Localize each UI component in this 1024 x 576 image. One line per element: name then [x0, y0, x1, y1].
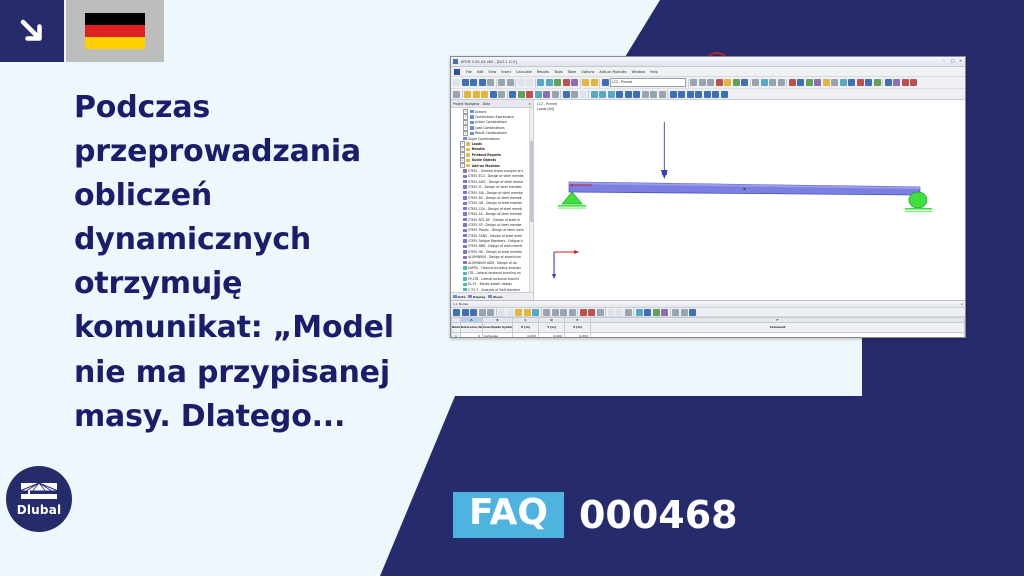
- tree-node-icon: [463, 250, 467, 253]
- table-settings-icon[interactable]: [625, 309, 632, 316]
- tree-node-icon: [470, 126, 474, 129]
- tree-node-icon: [463, 266, 467, 269]
- info-icon[interactable]: [902, 79, 909, 86]
- display-props-7-icon[interactable]: [721, 91, 728, 98]
- visibility-icon[interactable]: [616, 91, 623, 98]
- navigator-item-label: STEEL SANS - Design of steel mem: [468, 234, 522, 238]
- rotate-icon[interactable]: [778, 79, 785, 86]
- tree-node-icon: [463, 239, 467, 242]
- member-load-icon[interactable]: [543, 91, 550, 98]
- table-new-row-icon[interactable]: [453, 309, 460, 316]
- menu-view[interactable]: View: [488, 70, 496, 74]
- table-check-icon[interactable]: [653, 309, 660, 316]
- text-icon[interactable]: [571, 91, 578, 98]
- menu-window[interactable]: Window: [632, 70, 645, 74]
- deformation-icon[interactable]: [733, 79, 740, 86]
- toolbar-separator: [750, 79, 751, 87]
- page-title: Podczas przeprowadzania obliczeń dynamic…: [74, 86, 404, 439]
- navigator-close-icon[interactable]: ×: [528, 102, 531, 106]
- dimension-icon[interactable]: [563, 91, 570, 98]
- tree-node-icon: [463, 283, 467, 286]
- dlubal-logo[interactable]: Dlubal: [6, 466, 72, 532]
- support-roller-right: [909, 192, 927, 208]
- polyline-tool-icon[interactable]: [481, 91, 488, 98]
- undo-icon[interactable]: [537, 79, 544, 86]
- faq-footer: FAQ 000468: [453, 492, 738, 538]
- german-flag-icon: [85, 13, 145, 49]
- table-next-icon[interactable]: [560, 309, 567, 316]
- toolbar-separator: [605, 308, 606, 316]
- tree-node-icon: [470, 115, 474, 118]
- app-icon: [453, 59, 458, 64]
- group-icon[interactable]: [625, 91, 632, 98]
- navigator-tab-display[interactable]: Display: [468, 295, 485, 299]
- view-side-icon[interactable]: [806, 79, 813, 86]
- menu-file[interactable]: File: [466, 70, 472, 74]
- zoom-window-icon[interactable]: [752, 79, 759, 86]
- arrow-badge[interactable]: [0, 0, 64, 62]
- select-window-icon[interactable]: [599, 91, 606, 98]
- coordinate-axes: [552, 250, 579, 279]
- module-icon[interactable]: [885, 79, 892, 86]
- tree-node-icon: [466, 164, 470, 167]
- table-cut-icon[interactable]: [479, 309, 486, 316]
- table-view-icon[interactable]: [597, 309, 604, 316]
- view-top-icon[interactable]: [797, 79, 804, 86]
- surface-tool-icon[interactable]: [498, 91, 505, 98]
- menu-help[interactable]: Help: [650, 70, 658, 74]
- node-1: [571, 184, 574, 187]
- navigator-footer-tabs[interactable]: Data Display Views: [451, 292, 533, 300]
- load-case-prev-icon[interactable]: [602, 79, 609, 86]
- navigator-item-label: ALUMINIUM ADM - Design of alu: [468, 261, 517, 265]
- display-props-5-icon[interactable]: [704, 91, 711, 98]
- close-button[interactable]: ×: [959, 59, 963, 63]
- display-props-icon[interactable]: [670, 91, 677, 98]
- help-icon[interactable]: [910, 79, 917, 86]
- table-graphic-icon[interactable]: [661, 309, 668, 316]
- toolbar-separator: [462, 90, 463, 98]
- tree-node-icon: [463, 234, 467, 237]
- navigator-item-label: FE-LTB - Lateral-torsional bucklin: [468, 277, 519, 281]
- tree-node-icon: [463, 202, 467, 205]
- cell-reference-node[interactable]: 0: [461, 333, 483, 339]
- table-calc-icon[interactable]: [644, 309, 651, 316]
- table-delete-row-icon[interactable]: [470, 309, 477, 316]
- zoom-all-icon[interactable]: [761, 79, 768, 86]
- menu-tools[interactable]: Tools: [554, 70, 562, 74]
- view-front-icon[interactable]: [789, 79, 796, 86]
- navigator-scrollbar[interactable]: [529, 108, 533, 292]
- table-help-icon[interactable]: [689, 309, 696, 316]
- table-highlight-icon[interactable]: [588, 309, 595, 316]
- print-icon[interactable]: [487, 79, 494, 86]
- toolbar-separator: [496, 308, 497, 316]
- print-preview-icon[interactable]: [865, 79, 872, 86]
- load-marker: [662, 170, 667, 175]
- select-all-icon[interactable]: [591, 91, 598, 98]
- tree-node-icon: [470, 132, 474, 135]
- toolbar-separator: [688, 79, 689, 87]
- table-export-excel-icon[interactable]: [616, 309, 623, 316]
- copy-icon[interactable]: [507, 79, 514, 86]
- toolbar-separator: [670, 308, 671, 316]
- navigator-item-label: Guide Objects: [472, 158, 496, 162]
- cell-z[interactable]: 0.000: [565, 333, 591, 339]
- display-props-2-icon[interactable]: [678, 91, 685, 98]
- arc-tool-icon[interactable]: [473, 91, 480, 98]
- faq-number: 000468: [579, 496, 738, 534]
- node-tool-icon[interactable]: [453, 91, 460, 98]
- tree-node-icon: [463, 191, 467, 194]
- table-toolbar[interactable]: [451, 308, 965, 317]
- tree-node-icon: [463, 207, 467, 210]
- cell-coordinate-system[interactable]: Cartesian: [483, 333, 513, 339]
- header-node-no: Node No.: [452, 323, 461, 333]
- table-first-icon[interactable]: [543, 309, 550, 316]
- support-base-right: [905, 208, 932, 210]
- cut-icon[interactable]: [498, 79, 505, 86]
- navigator-item-label: ALUMINIUM - Design of aluminium: [468, 255, 521, 259]
- load-tool-icon[interactable]: [526, 91, 533, 98]
- table-selection-icon[interactable]: [580, 309, 587, 316]
- support-hatch-left: [558, 208, 586, 209]
- nav-prev-icon[interactable]: [699, 79, 706, 86]
- slide-canvas: Podczas przeprowadzania obliczeń dynamic…: [0, 0, 1024, 576]
- tree-node-icon: [463, 261, 467, 264]
- nav-next-icon[interactable]: [707, 79, 714, 86]
- beam-model-graphic: [534, 100, 965, 300]
- tree-node-icon: [466, 153, 470, 156]
- tree-node-icon: [463, 256, 467, 259]
- table-replace-icon[interactable]: [681, 309, 688, 316]
- language-flag-badge[interactable]: [66, 0, 164, 62]
- cell-y[interactable]: 0.000: [539, 333, 565, 339]
- navigator-item-label: Super Combinations: [468, 137, 499, 141]
- maximize-button[interactable]: □: [951, 59, 955, 63]
- paste-icon[interactable]: [518, 79, 525, 86]
- results-table-icon[interactable]: [724, 79, 731, 86]
- tree-node-icon: [463, 196, 467, 199]
- window-controls[interactable]: – □ ×: [943, 59, 963, 63]
- header-comment: Comment: [591, 323, 965, 333]
- menu-app-logo-icon: [454, 69, 460, 75]
- grid-icon[interactable]: [840, 79, 847, 86]
- new-file-icon[interactable]: [453, 79, 460, 86]
- results-on-icon[interactable]: [716, 79, 723, 86]
- window-titlebar: RFEM 5.XX.XX x64 - [DLT-1 (C)*] – □ ×: [451, 57, 965, 67]
- export-icon[interactable]: [874, 79, 881, 86]
- toolbar-separator: [515, 79, 516, 87]
- tree-node-icon: [463, 223, 467, 226]
- table-header-row: Node No. Reference Node Coordinate Syste…: [452, 323, 965, 333]
- mirror-icon[interactable]: [642, 91, 649, 98]
- view-iso-icon[interactable]: [814, 79, 821, 86]
- save-icon[interactable]: [470, 79, 477, 86]
- table-title: 1.1 Nodes: [453, 302, 468, 306]
- rfem-application-window[interactable]: RFEM 5.XX.XX x64 - [DLT-1 (C)*] – □ × Fi…: [450, 56, 966, 338]
- navigator-item-label: STEEL BS - Design of steel membe: [468, 196, 522, 200]
- module-2-icon[interactable]: [893, 79, 900, 86]
- header-z: Z [m]: [565, 323, 591, 333]
- tree-node-icon: [463, 272, 467, 275]
- menu-insert[interactable]: Insert: [501, 70, 511, 74]
- rotate-copy-icon[interactable]: [650, 91, 657, 98]
- truss-frame-icon: [19, 482, 59, 502]
- table-filter-icon[interactable]: [515, 309, 522, 316]
- table-panel-header: 1.1 Nodes ×: [451, 301, 965, 308]
- navigator-tree[interactable]: +Actions+Combination Expressions+Action …: [451, 108, 533, 292]
- clipboard-icon[interactable]: [526, 79, 533, 86]
- measure-icon[interactable]: [580, 91, 587, 98]
- table-copy-icon[interactable]: [487, 309, 494, 316]
- header-reference-node: Reference Node: [461, 323, 483, 333]
- cell-comment[interactable]: [591, 333, 965, 339]
- open-file-icon[interactable]: [462, 79, 469, 86]
- table-panel[interactable]: 1.1 Nodes ×: [451, 300, 965, 338]
- navigator-item-label: Add-on Modules: [472, 164, 500, 168]
- table-import-icon[interactable]: [507, 309, 514, 316]
- tree-node-icon: [463, 212, 467, 215]
- nav-first-icon[interactable]: [690, 79, 697, 86]
- nodes-table: A B C D E F Node No. Reference Node Coor…: [451, 317, 965, 338]
- node-mid: [743, 188, 745, 190]
- navigator-item-label: STEEL NBR - Design of steel memb: [468, 244, 522, 248]
- navigator-item-label: STEEL - General stress analysis of s: [468, 169, 523, 173]
- navigator-item-label: STEEL Fatigue Members - Fatigue d: [468, 239, 522, 243]
- header-x: X [m]: [513, 323, 539, 333]
- toolbar-secondary[interactable]: [451, 89, 965, 100]
- menu-edit[interactable]: Edit: [477, 70, 484, 74]
- toolbar-separator: [667, 90, 668, 98]
- toolbar-separator: [541, 308, 542, 316]
- load-case-select[interactable]: LC2 - Pinned: [610, 78, 686, 87]
- table-sort-icon[interactable]: [524, 309, 531, 316]
- tree-node-icon: [463, 288, 467, 291]
- navigator-item-label: STEEL GB - Design of steel membe: [468, 201, 522, 205]
- snap-icon[interactable]: [831, 79, 838, 86]
- table-last-icon[interactable]: [569, 309, 576, 316]
- view-perspective-icon[interactable]: [823, 79, 830, 86]
- navigator-item-label: Load Combinations: [475, 126, 505, 130]
- display-props-4-icon[interactable]: [695, 91, 702, 98]
- navigator-item-label: Result Combinations: [475, 131, 507, 135]
- tree-node-icon: [463, 180, 467, 183]
- nodes-grid[interactable]: A B C D E F Node No. Reference Node Coor…: [451, 317, 965, 338]
- navigator-item-label: Loads: [472, 142, 482, 146]
- navigator-tab-views[interactable]: Views: [488, 295, 502, 299]
- support-hatch-right: [905, 211, 932, 212]
- menu-calculate[interactable]: Calculate: [516, 70, 532, 74]
- minimize-button[interactable]: –: [943, 59, 947, 63]
- display-props-6-icon[interactable]: [712, 91, 719, 98]
- wireframe-icon[interactable]: [591, 79, 598, 86]
- navigator-item-label: Printout Reports: [472, 153, 501, 157]
- layer-icon[interactable]: [633, 91, 640, 98]
- tree-node-icon: [463, 169, 467, 172]
- pan-icon[interactable]: [769, 79, 776, 86]
- navigator-item-label: STEEL HK - Design of steel membe: [468, 250, 522, 254]
- header-y: Y [m]: [539, 323, 565, 333]
- table-find-icon[interactable]: [672, 309, 679, 316]
- navigator-item-label: KAPPA - Flexural buckling analysis: [468, 266, 521, 270]
- table-print-icon[interactable]: [608, 309, 615, 316]
- navigator-item-label: STEEL CSA - Design of steel memb: [468, 207, 522, 211]
- navigator-item-label: C-TO-T - Analysis of limit slendern: [468, 288, 520, 292]
- toolbar-separator: [633, 308, 634, 316]
- toolbar-separator: [599, 79, 600, 87]
- menu-results[interactable]: Results: [537, 70, 549, 74]
- calculate-icon[interactable]: [554, 79, 561, 86]
- toolbar-separator: [882, 79, 883, 87]
- toolbar-separator: [560, 90, 561, 98]
- redo-icon[interactable]: [546, 79, 553, 86]
- table-units-icon[interactable]: [636, 309, 643, 316]
- cell-node-no[interactable]: 1: [452, 333, 461, 339]
- tree-node-icon: [463, 277, 467, 280]
- project-navigator[interactable]: Project Navigator - Data × +Actions+Comb…: [451, 100, 534, 300]
- navigator-title: Project Navigator - Data: [453, 102, 490, 106]
- navigator-item-label: EL-PL - Elastic-plastic design: [468, 282, 512, 286]
- tree-node-icon: [466, 148, 470, 151]
- tree-node-icon: [466, 159, 470, 162]
- header-coordinate-system: Coordinate System: [483, 323, 513, 333]
- table-prev-icon[interactable]: [552, 309, 559, 316]
- support-tool-icon[interactable]: [509, 91, 516, 98]
- nodal-load-icon[interactable]: [535, 91, 542, 98]
- tree-expand-icon[interactable]: +: [460, 163, 465, 168]
- navigator-item-label: STEEL SIA - Design of steel membe: [468, 191, 522, 195]
- table-panel-close-icon[interactable]: ×: [960, 302, 963, 306]
- stop-icon[interactable]: [563, 79, 570, 86]
- faq-tag: FAQ: [453, 492, 564, 538]
- navigator-header: Project Navigator - Data ×: [451, 100, 533, 108]
- navigator-item-label: Combination Expressions: [475, 115, 514, 119]
- section-icon[interactable]: [741, 79, 748, 86]
- toolbar-separator: [786, 79, 787, 87]
- tree-node-icon: [470, 110, 474, 113]
- toolbar-separator: [588, 90, 589, 98]
- tree-node-icon: [463, 137, 467, 140]
- tree-node-icon: [463, 218, 467, 221]
- toolbar-primary[interactable]: LC2 - Pinned: [451, 77, 965, 89]
- toolbar-separator: [535, 79, 536, 87]
- arrow-down-right-icon: [17, 16, 47, 46]
- table-row[interactable]: 10Cartesian0.0000.0000.000: [452, 333, 965, 339]
- support-base-left: [558, 205, 586, 207]
- navigator-item-label: STEEL NTC-DF - Design of steel m: [468, 218, 520, 222]
- navigator-item-label: STEEL SP - Design of steel membe: [468, 223, 521, 227]
- window-title: RFEM 5.XX.XX x64 - [DLT-1 (C)*]: [461, 60, 517, 64]
- display-props-3-icon[interactable]: [687, 91, 694, 98]
- surface-load-icon[interactable]: [552, 91, 559, 98]
- table-refresh-icon[interactable]: [532, 309, 539, 316]
- navigator-item-label: Actions: [475, 110, 486, 114]
- work-area: Project Navigator - Data × +Actions+Comb…: [451, 100, 965, 300]
- navigator-item-label: STEEL AISC - Design of steel memb: [468, 180, 523, 184]
- guideline-icon[interactable]: [848, 79, 855, 86]
- toolbar-separator: [580, 79, 581, 87]
- navigator-item-label: STEEL Plastic - Design of steel mem: [468, 228, 524, 232]
- cell-x[interactable]: 0.000: [513, 333, 539, 339]
- scale-icon[interactable]: [659, 91, 666, 98]
- navigator-item-label: STEEL AS - Design of steel membe: [468, 212, 522, 216]
- select-special-icon[interactable]: [608, 91, 615, 98]
- menu-table[interactable]: Table: [568, 70, 577, 74]
- hinge-tool-icon[interactable]: [518, 91, 525, 98]
- tree-node-icon: [463, 185, 467, 188]
- render-icon[interactable]: [582, 79, 589, 86]
- tree-node-icon: [470, 121, 474, 124]
- menubar[interactable]: File Edit View Insert Calculate Results …: [451, 67, 965, 77]
- model-viewport[interactable]: LC2 - Pinned Loads [kN]: [534, 100, 965, 300]
- delete-icon[interactable]: [857, 79, 864, 86]
- tree-node-icon: [463, 245, 467, 248]
- toolbar-separator: [577, 308, 578, 316]
- table-paste-icon[interactable]: [498, 309, 505, 316]
- tree-node-icon: [463, 229, 467, 232]
- navigator-item[interactable]: C-TO-T - Analysis of limit slendern: [453, 287, 533, 292]
- tree-expand-icon[interactable]: +: [463, 131, 468, 136]
- line-tool-icon[interactable]: [464, 91, 471, 98]
- navigator-tab-data[interactable]: Data: [453, 295, 465, 299]
- navigator-item-label: STEEL IS - Design of steel member: [468, 185, 522, 189]
- logo-wordmark: Dlubal: [17, 503, 62, 517]
- navigator-item-label: LTB - Lateral-torsional buckling an: [468, 271, 521, 275]
- refresh-icon[interactable]: [571, 79, 578, 86]
- menu-options[interactable]: Options: [581, 70, 594, 74]
- tree-node-icon: [463, 175, 467, 178]
- toolbar-separator: [496, 79, 497, 87]
- navigator-item-label: Results: [472, 147, 485, 151]
- save-all-icon[interactable]: [479, 79, 486, 86]
- navigator-item-label: Action Combinations: [475, 120, 507, 124]
- tree-node-icon: [466, 142, 470, 145]
- menu-addon-modules[interactable]: Add-on Modules: [599, 70, 626, 74]
- table-insert-row-icon[interactable]: [462, 309, 469, 316]
- support-pinned-left: [562, 192, 582, 204]
- navigator-item-label: STEEL EC3 - Design of steel membe: [468, 174, 524, 178]
- toolbar-separator: [507, 90, 508, 98]
- member-tool-icon[interactable]: [490, 91, 497, 98]
